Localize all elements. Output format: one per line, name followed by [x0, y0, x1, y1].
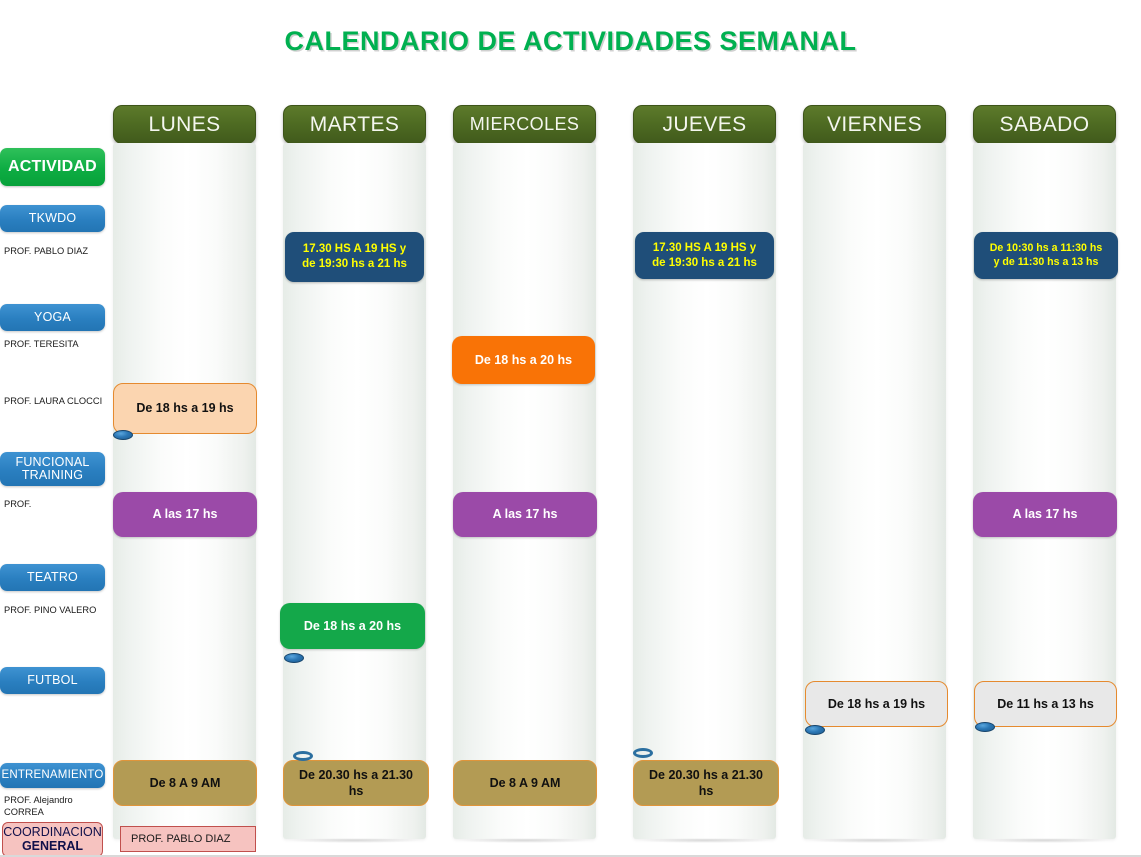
event-card-funcional-miercoles[interactable]: A las 17 hs — [453, 492, 597, 537]
sidebar-teacher-yoga: PROF. TERESITA — [4, 339, 106, 351]
event-card-tkwdo-sabado[interactable]: De 10:30 hs a 11:30 hs y de 11:30 hs a 1… — [974, 232, 1118, 279]
sidebar-item-label: TKWDO — [29, 212, 77, 226]
marker-dot-icon — [975, 722, 995, 732]
sidebar-item-futbol[interactable]: FUTBOL — [0, 667, 105, 694]
sidebar-header-label: ACTIVIDAD — [8, 158, 97, 175]
marker-dot-icon — [633, 748, 653, 758]
event-line2: de 19:30 hs a 21 hs — [652, 257, 757, 269]
marker-dot-icon — [284, 653, 304, 663]
sidebar-item-label: FUNCIONAL TRAINING — [0, 456, 105, 483]
event-card-entrenamiento-lunes[interactable]: De 8 A 9 AM — [113, 760, 257, 806]
event-line1: 17.30 HS A 19 HS y — [653, 242, 756, 254]
marker-dot-icon — [805, 725, 825, 735]
event-card-entrenamiento-martes[interactable]: De 20.30 hs a 21.30 hs — [283, 760, 429, 806]
event-line1: De 18 hs a 19 hs — [130, 400, 239, 416]
day-header-lunes[interactable]: LUNES — [113, 105, 256, 144]
day-header-label: SABADO — [1000, 113, 1090, 137]
sidebar-item-label: ENTRENAMIENTO — [1, 769, 103, 781]
event-line1: De 18 hs a 20 hs — [469, 352, 578, 368]
sidebar-coordinacion-general: COORDINACION GENERAL — [2, 822, 103, 857]
coordinacion-line1: COORDINACION — [3, 825, 102, 839]
event-line1: De 10:30 hs a 11:30 hs — [990, 242, 1102, 254]
event-card-funcional-sabado[interactable]: A las 17 hs — [973, 492, 1117, 537]
page-title: CALENDARIO DE ACTIVIDADES SEMANAL — [0, 26, 1141, 57]
coordinacion-line2: GENERAL — [3, 839, 102, 853]
day-column-lunes — [113, 143, 256, 839]
day-header-miercoles[interactable]: MIERCOLES — [453, 105, 596, 144]
sidebar-item-entrenamiento[interactable]: ENTRENAMIENTO — [0, 763, 105, 788]
event-line1: A las 17 hs — [487, 506, 564, 522]
event-card-futbol-sabado[interactable]: De 11 hs a 13 hs — [974, 681, 1117, 727]
event-card-yoga-miercoles[interactable]: De 18 hs a 20 hs — [452, 336, 595, 384]
sidebar-item-tkwdo[interactable]: TKWDO — [0, 205, 105, 232]
sidebar-teacher-teatro: PROF. PINO VALERO — [4, 605, 106, 617]
event-card-entrenamiento-jueves[interactable]: De 20.30 hs a 21.30 hs — [633, 760, 779, 806]
event-line1: De 20.30 hs a 21.30 hs — [634, 767, 778, 800]
marker-dot-icon — [293, 751, 313, 761]
day-header-label: MARTES — [310, 113, 400, 137]
sidebar-item-label: TEATRO — [27, 571, 78, 585]
event-line1: De 8 A 9 AM — [484, 775, 567, 791]
event-card-teatro-martes[interactable]: De 18 hs a 20 hs — [280, 603, 425, 649]
event-card-tkwdo-jueves[interactable]: 17.30 HS A 19 HS y de 19:30 hs a 21 hs — [635, 232, 774, 279]
sidebar-teacher-funcional-training: PROF. — [4, 499, 106, 511]
event-line2: de 19:30 hs a 21 hs — [302, 258, 407, 270]
event-line1: A las 17 hs — [1007, 506, 1084, 522]
sidebar-item-teatro[interactable]: TEATRO — [0, 564, 105, 591]
event-line1: De 18 hs a 20 hs — [298, 618, 407, 634]
day-header-label: JUEVES — [662, 113, 746, 137]
event-line2: y de 11:30 hs a 13 hs — [994, 256, 1099, 268]
coordinator-name-box: PROF. PABLO DIAZ — [120, 826, 256, 852]
sidebar-item-funcional-training[interactable]: FUNCIONAL TRAINING — [0, 452, 105, 486]
sidebar-item-label: YOGA — [34, 311, 71, 325]
day-column-miercoles — [453, 143, 596, 839]
event-line1: 17.30 HS A 19 HS y — [303, 243, 406, 255]
day-header-viernes[interactable]: VIERNES — [803, 105, 946, 144]
sidebar-header-actividad: ACTIVIDAD — [0, 148, 105, 186]
day-header-label: LUNES — [148, 113, 220, 137]
sidebar-item-label: FUTBOL — [27, 674, 78, 688]
event-line1: De 11 hs a 13 hs — [991, 696, 1100, 712]
event-card-funcional-lunes[interactable]: A las 17 hs — [113, 492, 257, 537]
event-card-entrenamiento-miercoles[interactable]: De 8 A 9 AM — [453, 760, 597, 806]
day-header-label: VIERNES — [827, 113, 922, 137]
event-line1: De 20.30 hs a 21.30 hs — [284, 767, 428, 800]
activity-sidebar: ACTIVIDAD TKWDO PROF. PABLO DIAZ YOGA PR… — [0, 0, 106, 857]
sidebar-teacher-entrenamiento: PROF. Alejandro CORREA — [4, 795, 106, 818]
event-card-futbol-viernes[interactable]: De 18 hs a 19 hs — [805, 681, 948, 727]
sidebar-item-yoga[interactable]: YOGA — [0, 304, 105, 331]
sidebar-teacher-laura-clocci: PROF. LAURA CLOCCI — [4, 396, 106, 408]
day-header-martes[interactable]: MARTES — [283, 105, 426, 144]
coordinator-name: PROF. PABLO DIAZ — [131, 833, 230, 845]
day-column-viernes — [803, 143, 946, 839]
event-card-tkwdo-martes[interactable]: 17.30 HS A 19 HS y de 19:30 hs a 21 hs — [285, 232, 424, 282]
sidebar-teacher-tkwdo: PROF. PABLO DIAZ — [4, 246, 106, 258]
marker-dot-icon — [113, 430, 133, 440]
day-header-label: MIERCOLES — [470, 114, 580, 135]
day-header-sabado[interactable]: SABADO — [973, 105, 1116, 144]
event-line1: De 8 A 9 AM — [144, 775, 227, 791]
event-card-yoga-lunes[interactable]: De 18 hs a 19 hs — [113, 383, 257, 434]
day-header-jueves[interactable]: JUEVES — [633, 105, 776, 144]
event-line1: A las 17 hs — [147, 506, 224, 522]
event-line1: De 18 hs a 19 hs — [822, 696, 931, 712]
